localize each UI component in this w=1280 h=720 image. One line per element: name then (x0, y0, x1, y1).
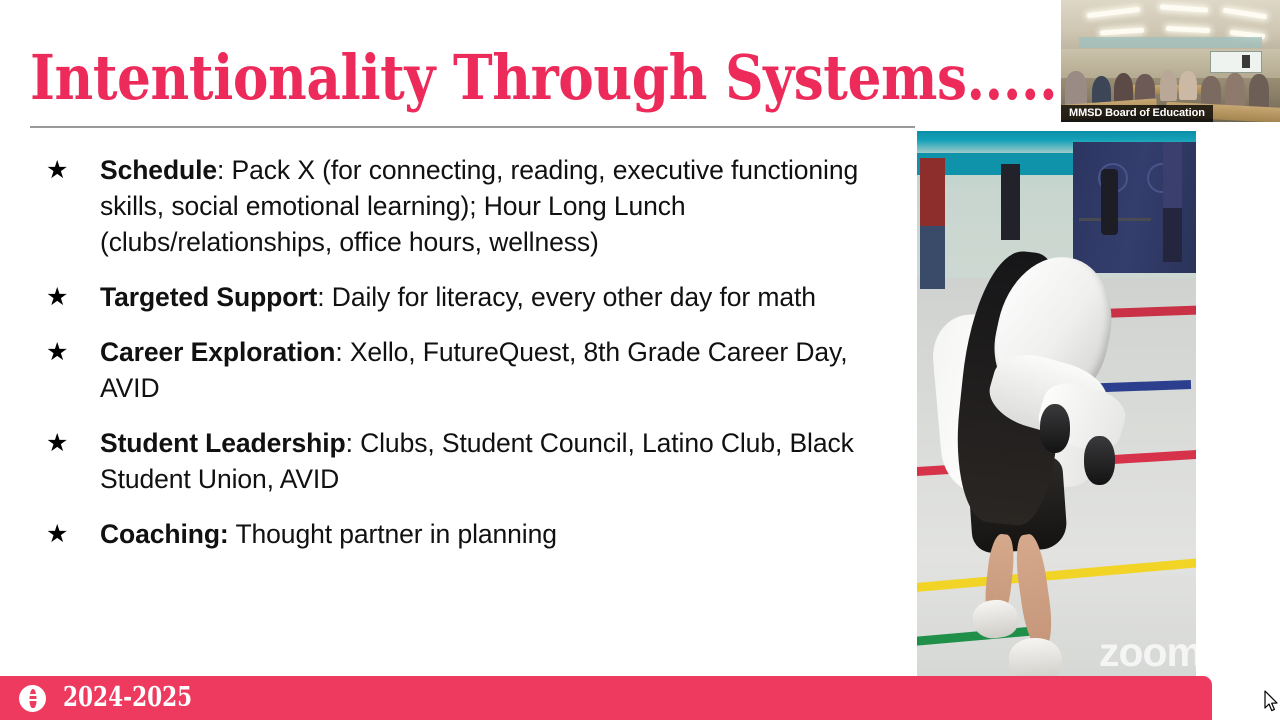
mouse-pointer-icon (1264, 690, 1280, 714)
projection-screen (1210, 51, 1263, 73)
slide-photo: zoom (917, 131, 1196, 676)
list-item-text: Student Leadership: Clubs, Student Counc… (100, 425, 900, 497)
presentation-slide: Intentionality Through Systems..... ★ Sc… (0, 0, 1280, 720)
mmsd-logo-icon (19, 685, 46, 712)
star-bullet-icon: ★ (38, 152, 100, 188)
star-bullet-icon: ★ (38, 516, 100, 552)
list-item: ★ Student Leadership: Clubs, Student Cou… (38, 425, 900, 497)
page-title: Intentionality Through Systems..... (30, 46, 907, 110)
meeting-attendee (1160, 70, 1178, 102)
background-person (1101, 169, 1118, 234)
star-bullet-icon: ★ (38, 279, 100, 315)
star-bullet-icon: ★ (38, 334, 100, 370)
list-item-label: Career Exploration (100, 337, 335, 367)
title-divider (30, 126, 915, 128)
meeting-attendee (1065, 71, 1087, 108)
list-item-text: Schedule: Pack X (for connecting, readin… (100, 152, 900, 260)
slide-footer: 2024-2025 (0, 676, 1212, 720)
video-participant-name: MMSD Board of Education (1061, 105, 1213, 122)
list-item: ★ Schedule: Pack X (for connecting, read… (38, 152, 900, 260)
video-participant-tile[interactable]: MMSD Board of Education (1060, 0, 1280, 123)
list-item-label: Coaching: (100, 519, 229, 549)
meeting-attendee (1179, 71, 1197, 100)
vr-controller (1040, 404, 1071, 453)
mmsd-logo-glyph (29, 689, 36, 708)
meeting-attendee (1249, 74, 1269, 108)
list-item-text: Targeted Support: Daily for literacy, ev… (100, 279, 900, 315)
zoom-watermark: zoom (1099, 630, 1196, 674)
meeting-attendee (1201, 76, 1221, 108)
background-person (1001, 164, 1021, 240)
list-item-body: Thought partner in planning (229, 519, 557, 549)
list-item: ★ Career Exploration: Xello, FutureQuest… (38, 334, 900, 406)
list-item-label: Schedule (100, 155, 217, 185)
background-person (920, 158, 945, 289)
list-item-body: : Daily for literacy, every other day fo… (317, 282, 816, 312)
star-bullet-icon: ★ (38, 425, 100, 461)
list-item: ★ Targeted Support: Daily for literacy, … (38, 279, 900, 315)
list-item-label: Targeted Support (100, 282, 317, 312)
ceiling-band (1079, 37, 1263, 48)
list-item: ★ Coaching: Thought partner in planning (38, 516, 900, 552)
vr-controller (1084, 436, 1115, 485)
projection-screen-content (1242, 55, 1250, 67)
background-person (1163, 142, 1183, 262)
bullet-list: ★ Schedule: Pack X (for connecting, read… (38, 152, 900, 571)
meeting-attendee (1225, 73, 1245, 107)
school-year-label: 2024-2025 (63, 683, 192, 713)
list-item-text: Coaching: Thought partner in planning (100, 516, 900, 552)
list-item-text: Career Exploration: Xello, FutureQuest, … (100, 334, 900, 406)
list-item-label: Student Leadership (100, 428, 346, 458)
